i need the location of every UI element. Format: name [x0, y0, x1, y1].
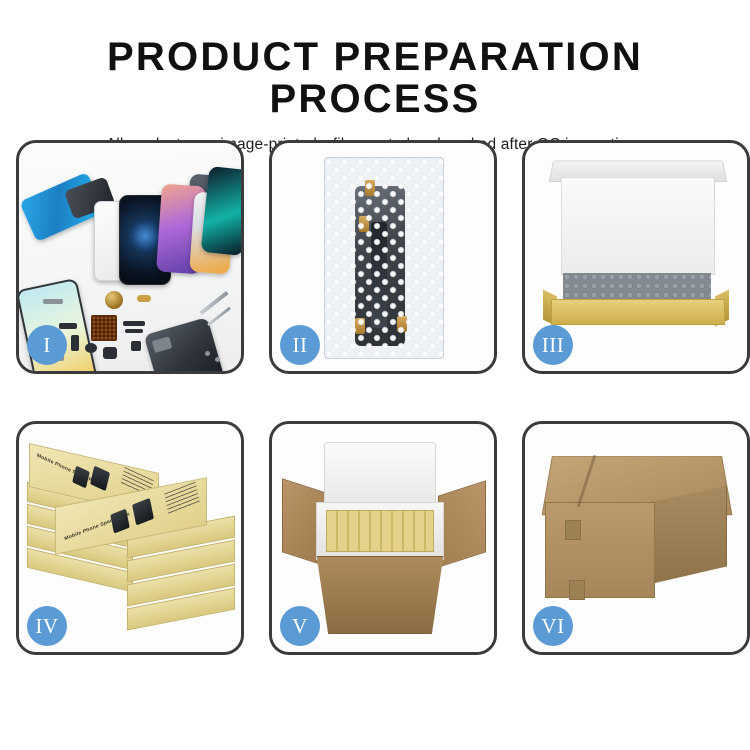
yellow-boxes-inside-foam — [326, 510, 434, 552]
top-box-front-text-block — [164, 482, 200, 515]
page-title: PRODUCT PREPARATION PROCESS — [0, 36, 750, 120]
process-step-panel-6[interactable]: VI — [522, 421, 750, 655]
process-step-panel-1[interactable]: I — [16, 140, 244, 374]
bubble-texture — [325, 158, 443, 358]
kraft-carton-body — [308, 556, 452, 634]
step-badge-4: IV — [27, 606, 67, 646]
top-box-rear-window-1 — [72, 466, 90, 489]
spare-part-flex-2 — [125, 329, 143, 333]
process-step-panel-5[interactable]: V — [269, 421, 497, 655]
process-step-panel-3[interactable]: III — [522, 140, 750, 374]
spare-part-flex-1 — [123, 321, 145, 326]
spare-part-strip-1 — [43, 299, 63, 304]
process-step-panel-2[interactable]: II — [269, 140, 497, 374]
taptic-coin-part — [105, 291, 123, 309]
bubble-wrap-bag — [324, 157, 444, 359]
box-stack: Mobile Phone Spare Parts Mobile Phone Sp… — [25, 440, 237, 630]
carton-tape-upper — [565, 520, 581, 540]
yellow-box-front-panel — [551, 299, 725, 325]
screw-1 — [205, 351, 210, 356]
process-step-panel-4[interactable]: Mobile Phone Spare Parts Mobile Phone Sp… — [16, 421, 244, 655]
top-box-rear-window-2 — [90, 466, 110, 492]
step-badge-1: I — [27, 325, 67, 365]
white-foam-sheet — [561, 177, 715, 275]
logic-board-chip — [91, 315, 117, 341]
spare-part-bracket — [59, 323, 77, 329]
step-badge-3: III — [533, 325, 573, 365]
top-box-front-window-2 — [132, 498, 154, 526]
spare-part-screw-set — [131, 341, 141, 351]
carton-tape-lower — [569, 580, 585, 600]
top-box-front-window-1 — [110, 509, 130, 534]
spare-part-gold-connector — [137, 295, 151, 302]
step-badge-2: II — [280, 325, 320, 365]
spare-part-speaker — [85, 343, 97, 353]
process-step-grid: I II III — [16, 140, 734, 655]
spare-part-camera — [71, 335, 79, 351]
page-header: PRODUCT PREPARATION PROCESS All products… — [0, 0, 750, 154]
step-badge-6: VI — [533, 606, 573, 646]
carton-front-face — [545, 502, 655, 598]
spare-part-button — [103, 347, 117, 359]
bubble-wrapped-items-row — [563, 273, 711, 299]
screw-2 — [215, 357, 220, 362]
step-badge-5: V — [280, 606, 320, 646]
foam-box-lid — [324, 442, 436, 506]
